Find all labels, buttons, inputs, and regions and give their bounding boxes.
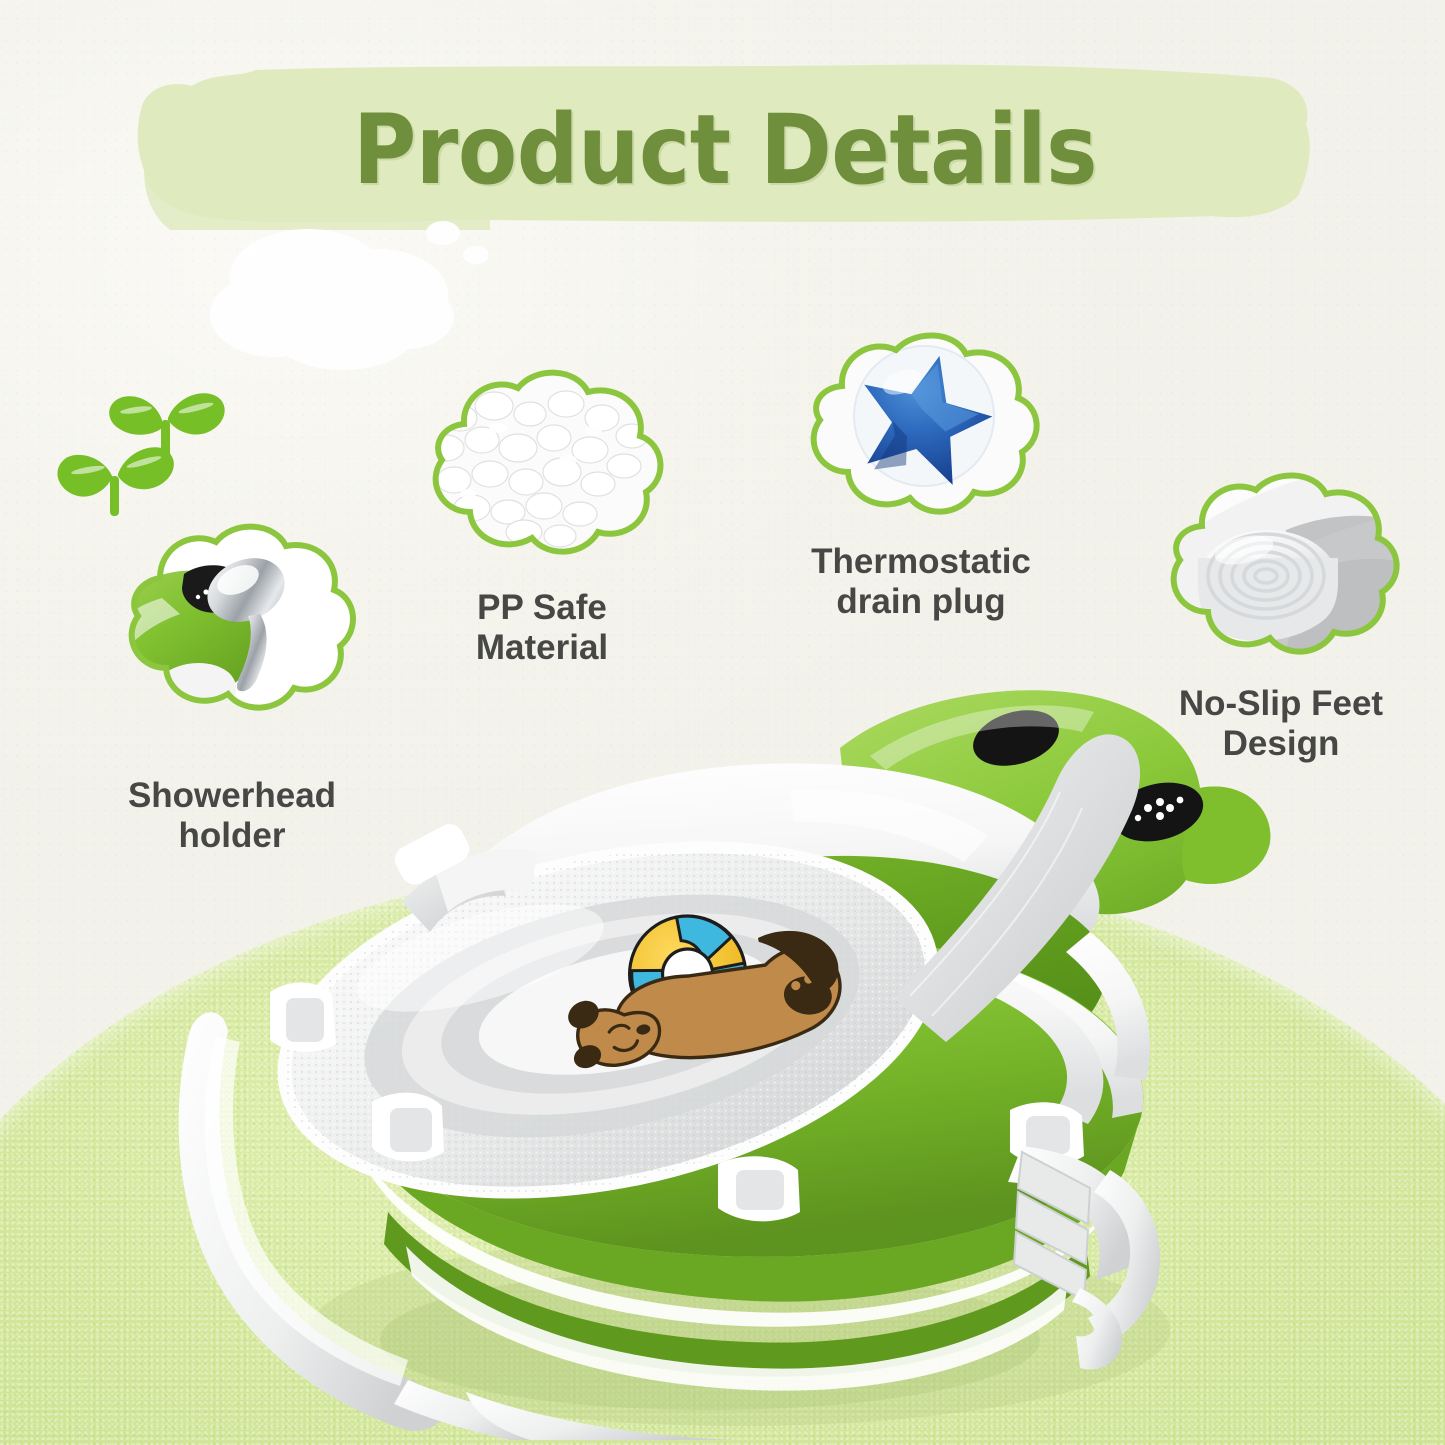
product-image-folding-baby-bathtub <box>150 640 1310 1440</box>
sprout-doodle-icon <box>44 358 234 536</box>
badge-pp-safe-material <box>398 366 686 576</box>
badge-thermostatic-drain-plug <box>778 330 1064 530</box>
feature-label: Thermostatic drain plug <box>778 542 1064 622</box>
feature-pp-safe-material[interactable]: PP Safe Material <box>398 366 686 668</box>
feature-thermostatic-drain-plug[interactable]: Thermostatic drain plug <box>778 330 1064 622</box>
infographic-canvas: Product Details <box>0 0 1445 1445</box>
page-title: Product Details <box>130 86 1320 214</box>
